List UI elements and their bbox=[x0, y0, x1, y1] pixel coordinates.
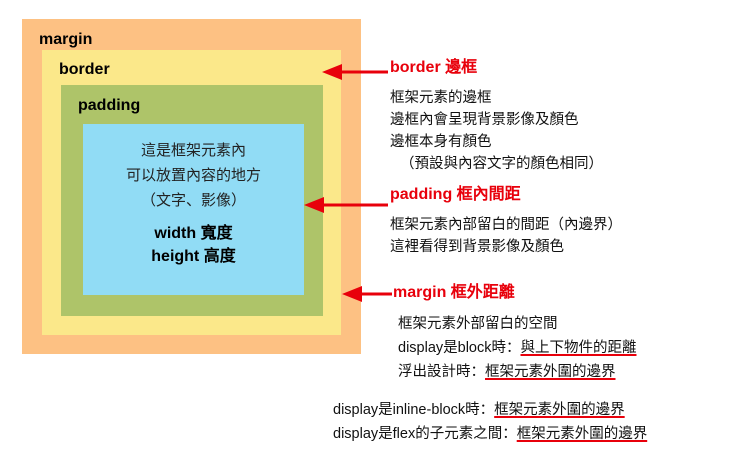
content-box-dimensions: width 寬度 height 高度 bbox=[83, 222, 304, 268]
content-line: 這是框架元素內 bbox=[83, 138, 304, 163]
annotation-border: border 邊框 框架元素的邊框 邊框內會呈現背景影像及顏色 邊框本身有顏色 … bbox=[390, 58, 603, 175]
annotation-padding-body: 框架元素內部留白的間距（內邊界） 這裡看得到背景影像及顏色 bbox=[390, 214, 622, 258]
margin-box: margin border padding 這是框架元素內 可以放置內容的地方 … bbox=[22, 19, 361, 354]
annotation-line: 框架元素外部留白的空間 bbox=[398, 312, 637, 336]
padding-box-label: padding bbox=[78, 98, 140, 114]
annotation-line-emphasized: display是inline-block時：框架元素外圍的邊界 bbox=[333, 398, 647, 422]
annotation-padding-heading: padding 框內間距 bbox=[390, 185, 622, 205]
annotation-padding: padding 框內間距 框架元素內部留白的間距（內邊界） 這裡看得到背景影像及… bbox=[390, 185, 622, 258]
content-line: （文字、影像） bbox=[83, 188, 304, 213]
annotation-line: 邊框內會呈現背景影像及顏色 bbox=[390, 109, 603, 131]
annotation-margin-heading: margin 框外距離 bbox=[393, 283, 637, 303]
content-box: 這是框架元素內 可以放置內容的地方 （文字、影像） width 寬度 heigh… bbox=[83, 124, 304, 295]
content-line: 可以放置內容的地方 bbox=[83, 163, 304, 188]
annotation-line-prefix: display是flex的子元素之間： bbox=[333, 426, 517, 442]
border-box-label: border bbox=[59, 62, 110, 78]
annotation-line: 這裡看得到背景影像及顏色 bbox=[390, 236, 622, 258]
annotation-line-emphasized: display是flex的子元素之間：框架元素外圍的邊界 bbox=[333, 422, 647, 446]
annotation-line-emphasized: 浮出設計時：框架元素外圍的邊界 bbox=[398, 360, 637, 384]
content-box-description: 這是框架元素內 可以放置內容的地方 （文字、影像） bbox=[83, 138, 304, 213]
margin-box-label: margin bbox=[39, 32, 92, 48]
annotation-line-prefix: display是block時： bbox=[398, 340, 521, 356]
annotation-line: （預設與內容文字的顏色相同） bbox=[390, 153, 603, 175]
annotation-line-emphasis: 與上下物件的距離 bbox=[521, 340, 637, 356]
annotation-line-prefix: display是inline-block時： bbox=[333, 402, 494, 418]
annotation-line-emphasis: 框架元素外圍的邊界 bbox=[494, 402, 625, 418]
annotation-line-emphasis: 框架元素外圍的邊界 bbox=[485, 364, 616, 380]
border-box: border padding 這是框架元素內 可以放置內容的地方 （文字、影像）… bbox=[42, 50, 341, 335]
annotation-display-notes: display是inline-block時：框架元素外圍的邊界 display是… bbox=[333, 398, 647, 446]
annotation-line-emphasis: 框架元素外圍的邊界 bbox=[517, 426, 648, 442]
content-width-line: width 寬度 bbox=[83, 222, 304, 245]
padding-box: padding 這是框架元素內 可以放置內容的地方 （文字、影像） width … bbox=[61, 85, 323, 316]
annotation-margin: margin 框外距離 框架元素外部留白的空間 display是block時：與… bbox=[393, 283, 637, 384]
annotation-line: 邊框本身有顏色 bbox=[390, 131, 603, 153]
annotation-border-heading: border 邊框 bbox=[390, 58, 603, 78]
annotation-line-prefix: 浮出設計時： bbox=[398, 364, 485, 380]
content-height-line: height 高度 bbox=[83, 245, 304, 268]
annotation-line: 框架元素內部留白的間距（內邊界） bbox=[390, 214, 622, 236]
annotation-margin-body: 框架元素外部留白的空間 display是block時：與上下物件的距離 浮出設計… bbox=[393, 312, 637, 384]
annotation-line: 框架元素的邊框 bbox=[390, 87, 603, 109]
annotation-line-emphasized: display是block時：與上下物件的距離 bbox=[398, 336, 637, 360]
annotation-border-body: 框架元素的邊框 邊框內會呈現背景影像及顏色 邊框本身有顏色 （預設與內容文字的顏… bbox=[390, 87, 603, 175]
